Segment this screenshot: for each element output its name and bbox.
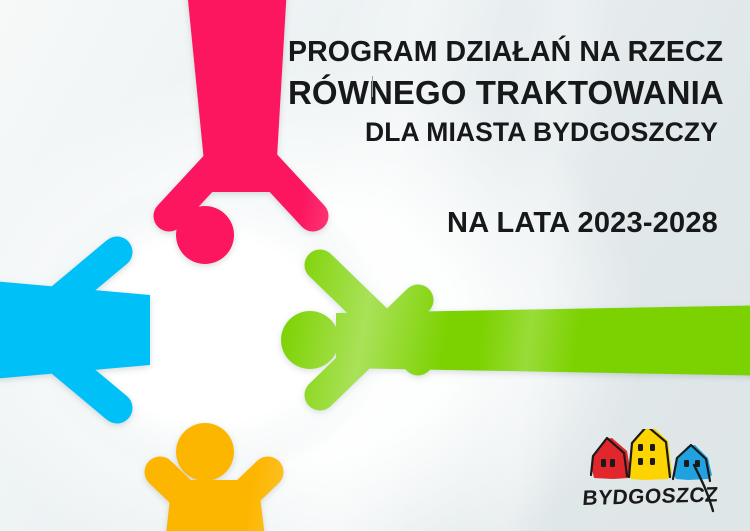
logo-house-yellow (629, 429, 672, 480)
title-line-3: DLA MIASTA BYDGOSZCZY (288, 119, 718, 146)
figure-bottom-head (176, 423, 234, 481)
title-line-2: RÓWNEGO TRAKTOWANIA (288, 76, 718, 109)
poster-canvas: PROGRAM DZIAŁAŃ NA RZECZ RÓWNEGO TRAKTOW… (0, 0, 750, 531)
bydgoszcz-logo: BYDGOSZCZ (582, 429, 730, 521)
figure-right-head (281, 311, 339, 369)
figure-left-blue (0, 241, 150, 419)
text-caret-artifact (372, 76, 373, 97)
logo-house-blue (673, 445, 712, 481)
figure-right-green (281, 265, 750, 395)
figure-bottom-yellow (160, 423, 268, 531)
logo-wordmark: BYDGOSZCZ (582, 484, 719, 510)
title-line-1: PROGRAM DZIAŁAŃ NA RZECZ (288, 38, 718, 67)
figure-left-head (69, 301, 127, 359)
figure-top-head (176, 206, 234, 264)
poster-title: PROGRAM DZIAŁAŃ NA RZECZ RÓWNEGO TRAKTOW… (288, 38, 718, 145)
logo-house-red (591, 438, 631, 479)
poster-years: NA LATA 2023-2028 (288, 207, 718, 240)
